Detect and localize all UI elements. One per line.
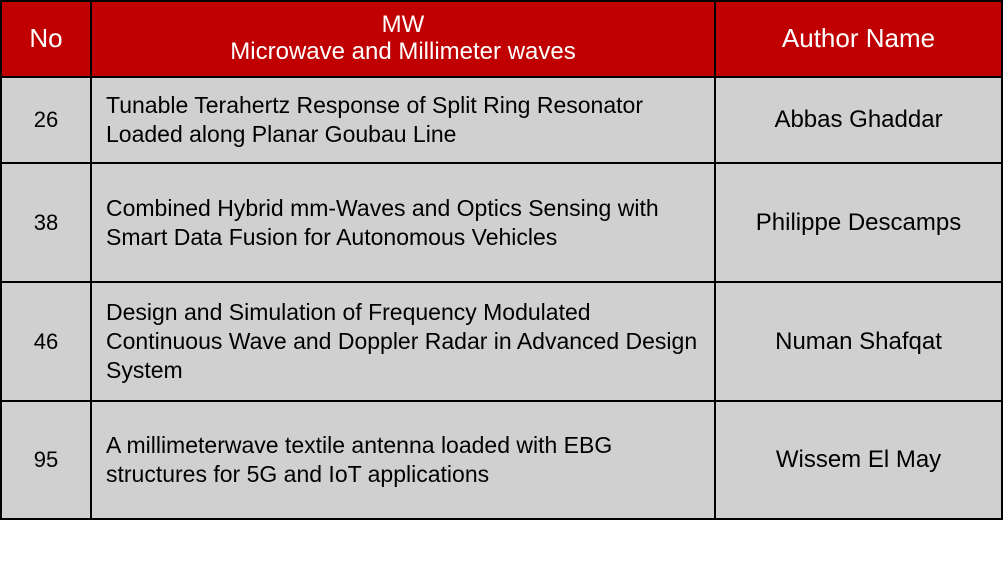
table-header: No MW Microwave and Millimeter waves Aut… <box>1 1 1002 77</box>
column-header-topic: MW Microwave and Millimeter waves <box>91 1 715 77</box>
table-row: 26 Tunable Terahertz Response of Split R… <box>1 77 1002 163</box>
topic-name-label: Microwave and Millimeter waves <box>98 39 708 66</box>
cell-paper-title: A millimeterwave textile antenna loaded … <box>91 401 715 519</box>
page-container: No MW Microwave and Millimeter waves Aut… <box>0 0 1003 513</box>
cell-paper-title: Design and Simulation of Frequency Modul… <box>91 282 715 401</box>
cell-paper-number: 95 <box>1 401 91 519</box>
cell-paper-title: Tunable Terahertz Response of Split Ring… <box>91 77 715 163</box>
column-header-no: No <box>1 1 91 77</box>
cell-paper-title: Combined Hybrid mm-Waves and Optics Sens… <box>91 163 715 282</box>
table-header-row: No MW Microwave and Millimeter waves Aut… <box>1 1 1002 77</box>
column-header-author: Author Name <box>715 1 1002 77</box>
cell-author-name: Abbas Ghaddar <box>715 77 1002 163</box>
session-schedule-table: No MW Microwave and Millimeter waves Aut… <box>0 0 1003 520</box>
cell-author-name: Numan Shafqat <box>715 282 1002 401</box>
table-body: 26 Tunable Terahertz Response of Split R… <box>1 77 1002 519</box>
cell-paper-number: 38 <box>1 163 91 282</box>
cell-paper-number: 26 <box>1 77 91 163</box>
table-row: 46 Design and Simulation of Frequency Mo… <box>1 282 1002 401</box>
page-bottom-whitespace <box>0 520 1003 570</box>
cell-paper-number: 46 <box>1 282 91 401</box>
cell-author-name: Philippe Descamps <box>715 163 1002 282</box>
cell-author-name: Wissem El May <box>715 401 1002 519</box>
table-row: 95 A millimeterwave textile antenna load… <box>1 401 1002 519</box>
table-row: 38 Combined Hybrid mm-Waves and Optics S… <box>1 163 1002 282</box>
topic-code-label: MW <box>98 12 708 39</box>
